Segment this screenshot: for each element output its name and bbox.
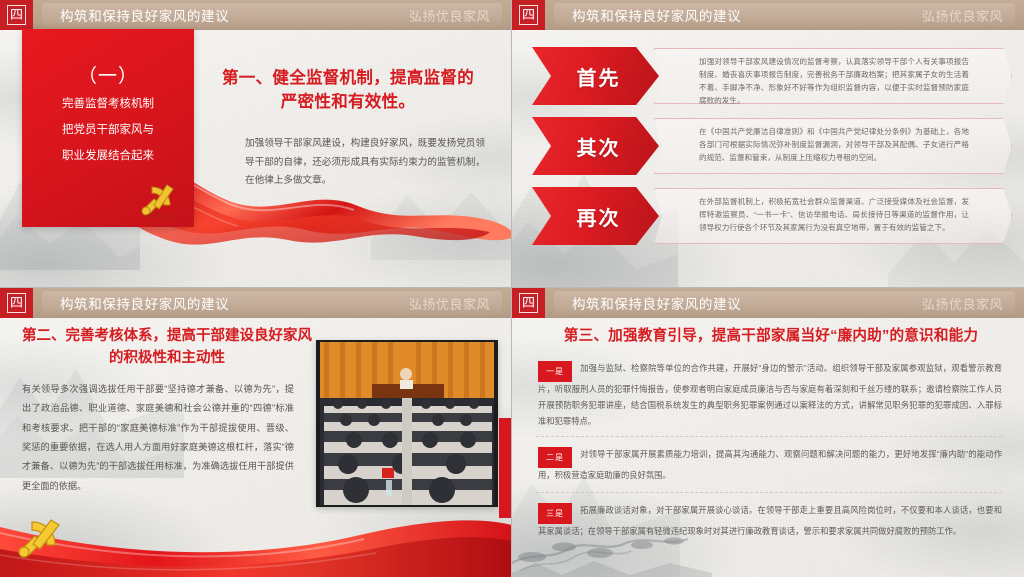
header-title-bar: 构筑和保持良好家风的建议 弘扬优良家风 (42, 3, 502, 27)
card-number: （一） (28, 61, 188, 88)
party-emblem-icon (136, 179, 180, 219)
arrow-text-box-1: 加强对领导干部家风建设情况的监督考察，认真落实领导干部个人有关事项报告制度、婚丧… (654, 48, 1012, 104)
section-number: 四 (7, 293, 26, 313)
arrow-text-box-3: 在外部监督机制上，积极拓宽社会群众监督渠道、广泛接受媒体及社会监督，发挥特邀监察… (654, 188, 1012, 244)
section-number-badge: 四 (512, 288, 545, 318)
header-title-bar: 构筑和保持良好家风的建议 弘扬优良家风 (42, 291, 502, 315)
list-item-1-text: 加强与监狱、检察院等单位的合作共建，开展好“身边的警示”活动。组织领导干部及家属… (538, 363, 1002, 426)
card-line-3: 职业发展结合起来 (28, 146, 188, 166)
chevron-label-2[interactable]: 其次 (532, 117, 659, 175)
list-item-1-paragraph: 一是加强与监狱、检察院等单位的合作共建，开展好“身边的警示”活动。组织领导干部及… (538, 360, 1002, 429)
slide-3-body: 有关领导多次强调选拔任用干部要“坚持德才兼备、以德为先”，提出了政治品德、职业道… (22, 380, 294, 496)
watermark-text: 弘扬优良家风 (409, 6, 490, 25)
arrow-text-1: 加强对领导干部家风建设情况的监督考察，认真落实领导干部个人有关事项报告制度、婚丧… (699, 55, 969, 107)
list-item-2: 二是对领导干部家属开展素质能力培训，提高其沟通能力、观察问题和解决问题的能力，更… (538, 446, 1002, 483)
list-item-2-text: 对领导干部家属开展素质能力培训，提高其沟通能力、观察问题和解决问题的能力，更好地… (538, 449, 1002, 480)
arrow-text-2: 在《中国共产党廉洁自律准则》和《中国共产党纪律处分条例》为基础上，各地各部门可根… (699, 125, 969, 164)
divider-1 (536, 436, 1002, 437)
section-number-badge: 四 (0, 0, 33, 30)
header-title-bar: 构筑和保持良好家风的建议 弘扬优良家风 (554, 3, 1015, 27)
slide-4-heading: 第三、加强教育引导，提高干部家属当好“廉内助”的意识和能力 (536, 324, 1006, 345)
arrow-row-1[interactable]: 加强对领导干部家风建设情况的监督考察，认真落实领导干部个人有关事项报告制度、婚丧… (512, 47, 1024, 109)
page-title: 构筑和保持良好家风的建议 (60, 5, 229, 25)
list-item-3-paragraph: 三是拓展廉政谈话对象，对干部家属开展谈心谈话。在领导干部走上重要且高风险岗位时，… (538, 502, 1002, 539)
slide-4[interactable]: 四 构筑和保持良好家风的建议 弘扬优良家风 第三、加强教育引导，提高干部家属当好… (512, 288, 1024, 577)
numbered-red-card[interactable]: （一） 完善监督考核机制 把党员干部家风与 职业发展结合起来 (22, 29, 194, 227)
page-title: 构筑和保持良好家风的建议 (572, 293, 741, 313)
card-line-2: 把党员干部家风与 (28, 120, 188, 140)
card-line-1: 完善监督考核机制 (28, 94, 188, 114)
page-title: 构筑和保持良好家风的建议 (572, 5, 741, 25)
red-silk-ribbon-footer (0, 511, 511, 577)
chevron-label-text-2: 其次 (577, 132, 621, 161)
arrow-text-3: 在外部监督机制上，积极拓宽社会群众监督渠道、广泛接受媒体及社会监督，发挥特邀监察… (699, 195, 969, 234)
slide-header: 四 构筑和保持良好家风的建议 弘扬优良家风 (0, 0, 511, 30)
chevron-label-text-1: 首先 (577, 62, 621, 91)
watermark-text: 弘扬优良家风 (922, 6, 1003, 25)
list-item-3-tag: 三是 (538, 503, 572, 524)
list-item-3: 三是拓展廉政谈话对象，对干部家属开展谈心谈话。在领导干部走上重要且高风险岗位时，… (538, 502, 1002, 539)
section-number: 四 (7, 5, 26, 25)
slide-header: 四 构筑和保持良好家风的建议 弘扬优良家风 (512, 0, 1024, 30)
list-item-3-text: 拓展廉政谈话对象，对干部家属开展谈心谈话。在领导干部走上重要且高风险岗位时，不仅… (538, 505, 1002, 536)
slide-3-heading: 第二、完善考核体系，提高干部建设良好家风的积极性和主动性 (22, 326, 312, 370)
list-item-2-paragraph: 二是对领导干部家属开展素质能力培训，提高其沟通能力、观察问题和解决问题的能力，更… (538, 446, 1002, 483)
page-title: 构筑和保持良好家风的建议 (60, 293, 229, 313)
list-item-2-tag: 二是 (538, 447, 572, 468)
arrow-row-2[interactable]: 在《中国共产党廉洁自律准则》和《中国共产党纪律处分条例》为基础上，各地各部门可根… (512, 117, 1024, 179)
section-number-badge: 四 (0, 288, 33, 318)
party-emblem-icon (14, 515, 64, 561)
slide-grid: 四 构筑和保持良好家风的建议 弘扬优良家风 (0, 0, 1024, 577)
chevron-label-1[interactable]: 首先 (532, 47, 659, 105)
slide-2[interactable]: 四 构筑和保持良好家风的建议 弘扬优良家风 加强对领导干部家风建设情况的监督考察… (512, 0, 1024, 288)
list-item-1-tag: 一是 (538, 361, 572, 382)
slide-1-body: 加强领导干部家风建设，构建良好家风，既要发扬党员领导干部的自律，还必须形成具有实… (245, 135, 485, 191)
slide-header: 四 构筑和保持良好家风的建议 弘扬优良家风 (0, 288, 511, 318)
divider-2 (536, 492, 1002, 493)
arrow-text-box-2: 在《中国共产党廉洁自律准则》和《中国共产党纪律处分条例》为基础上，各地各部门可根… (654, 118, 1012, 174)
chevron-label-text-3: 再次 (577, 202, 621, 231)
section-number: 四 (519, 5, 538, 25)
list-item-1: 一是加强与监狱、检察院等单位的合作共建，开展好“身边的警示”活动。组织领导干部及… (538, 360, 1002, 429)
watermark-text: 弘扬优良家风 (409, 294, 490, 313)
header-title-bar: 构筑和保持良好家风的建议 弘扬优良家风 (554, 291, 1015, 315)
chevron-label-3[interactable]: 再次 (532, 187, 659, 245)
arrow-row-3[interactable]: 在外部监督机制上，积极拓宽社会群众监督渠道、广泛接受媒体及社会监督，发挥特邀监察… (512, 187, 1024, 249)
slide-1[interactable]: 四 构筑和保持良好家风的建议 弘扬优良家风 (0, 0, 512, 288)
section-number: 四 (519, 293, 538, 313)
section-number-badge: 四 (512, 0, 545, 30)
watermark-text: 弘扬优良家风 (922, 294, 1003, 313)
slide-header: 四 构筑和保持良好家风的建议 弘扬优良家风 (512, 288, 1024, 318)
slide-3[interactable]: 四 构筑和保持良好家风的建议 弘扬优良家风 第二、完善考核体系，提高干部建设良好… (0, 288, 512, 577)
slide-1-heading: 第一、健全监督机制，提高监督的严密性和有效性。 (218, 67, 478, 115)
conference-auditorium-photo[interactable] (316, 340, 498, 507)
photo-red-accent-bar (499, 418, 511, 518)
